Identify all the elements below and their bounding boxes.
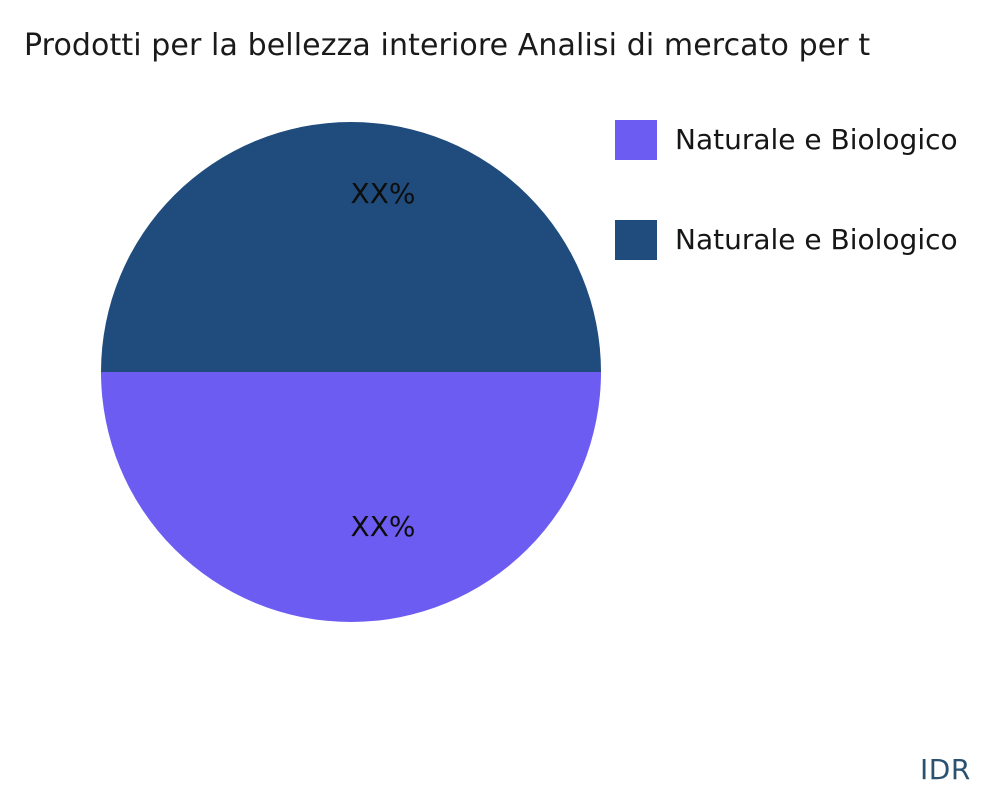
chart-legend: Naturale e Biologico Naturale e Biologic…: [615, 120, 1000, 320]
pie-chart-plot: XX% XX%: [101, 122, 601, 622]
watermark-text: IDR: [920, 753, 971, 787]
chart-title: Prodotti per la bellezza interiore Anali…: [24, 26, 1000, 66]
legend-color-swatch-purple: [615, 120, 657, 160]
legend-item-0[interactable]: Naturale e Biologico: [615, 120, 1000, 220]
pie-chart-figure: Prodotti per la bellezza interiore Anali…: [0, 0, 1000, 800]
pie-slice-darkblue[interactable]: [101, 122, 601, 372]
pie-slice-label-darkblue: XX%: [351, 180, 416, 208]
legend-color-swatch-darkblue: [615, 220, 657, 260]
legend-item-1[interactable]: Naturale e Biologico: [615, 220, 1000, 320]
pie-slice-label-purple: XX%: [351, 513, 416, 541]
pie-slice-purple[interactable]: [101, 372, 601, 622]
legend-item-label-1: Naturale e Biologico: [675, 225, 958, 255]
legend-item-label-0: Naturale e Biologico: [675, 125, 958, 155]
